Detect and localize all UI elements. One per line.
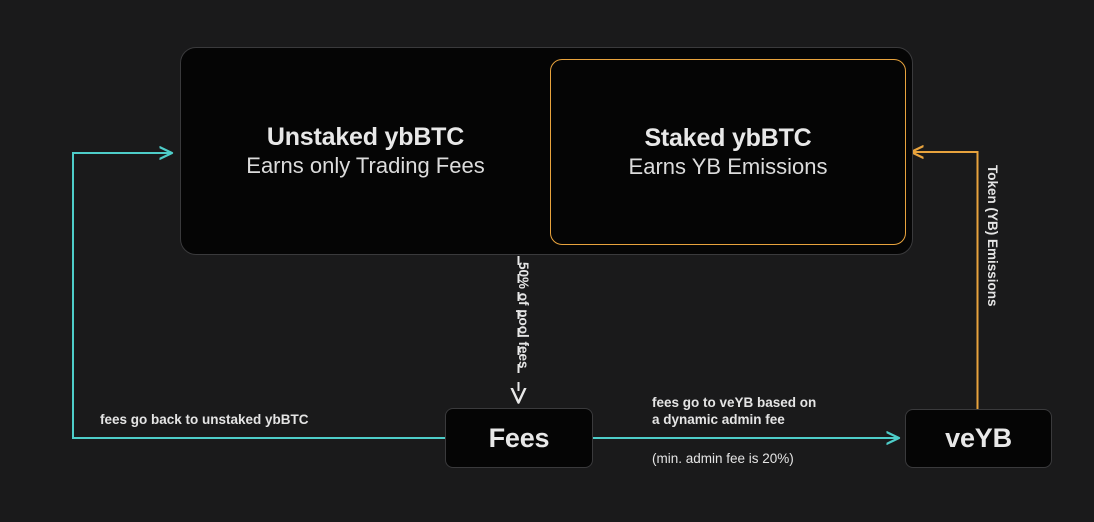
edge-label-pool-to-fees: 50% of pool fees [516, 262, 531, 369]
unstaked-ybbtc-pane: Unstaked ybBTC Earns only Trading Fees [181, 48, 550, 254]
staked-ybbtc-title: Staked ybBTC [644, 124, 811, 154]
diagram-canvas: Unstaked ybBTC Earns only Trading Fees S… [0, 0, 1094, 522]
edge-veyb-to-staked [911, 152, 978, 409]
edge-label-fees-to-unstaked: fees go back to unstaked ybBTC [100, 411, 309, 428]
staked-ybbtc-pane: Staked ybBTC Earns YB Emissions [550, 59, 906, 245]
edge-label-veyb-to-staked: Token (YB) Emissions [985, 165, 1000, 307]
pool-card: Unstaked ybBTC Earns only Trading Fees S… [180, 47, 913, 255]
edge-label-fees-to-veyb-primary: fees go to veYB based on a dynamic admin… [652, 394, 816, 429]
unstaked-ybbtc-title: Unstaked ybBTC [267, 123, 464, 153]
veyb-node: veYB [905, 409, 1052, 468]
edge-label-fees-to-veyb-secondary: (min. admin fee is 20%) [652, 450, 794, 467]
staked-ybbtc-subtitle: Earns YB Emissions [629, 153, 828, 181]
unstaked-ybbtc-subtitle: Earns only Trading Fees [246, 152, 484, 180]
fees-node: Fees [445, 408, 593, 468]
